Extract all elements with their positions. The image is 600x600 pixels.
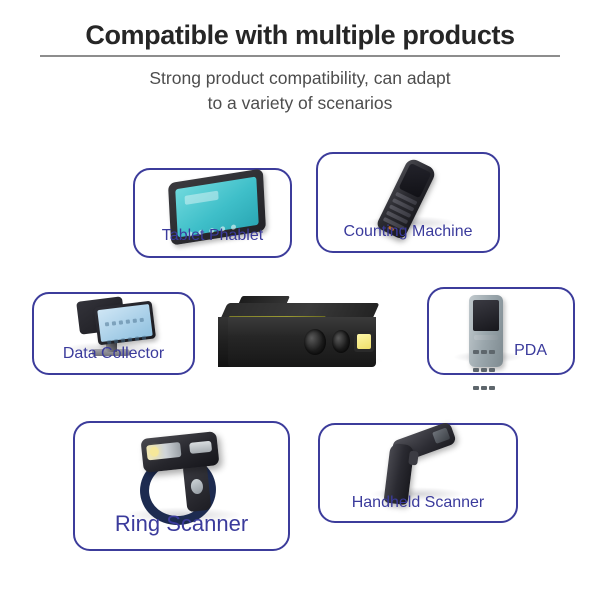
pda-icon [466, 295, 510, 371]
page-header: Compatible with multiple products Strong… [0, 0, 600, 116]
page-subtitle-line-2: to a variety of scenarios [70, 91, 530, 116]
card-label-tablet-phablet: Tablet Phablet [135, 228, 290, 244]
scanner-lens-1 [304, 329, 326, 355]
handheld-scanner-icon [375, 427, 470, 503]
card-label-ring-scanner: Ring Scanner [75, 513, 288, 535]
card-ring-scanner[interactable]: Ring Scanner [73, 421, 290, 551]
card-label-data-collector: Data Collector [34, 346, 193, 362]
scanner-led-window [354, 331, 374, 352]
ring-scanner-icon [130, 429, 242, 519]
card-label-pda: PDA [514, 343, 547, 359]
card-data-collector[interactable]: Data Collector [32, 292, 195, 375]
page-subtitle: Strong product compatibility, can adapt … [70, 66, 530, 116]
card-handheld-scanner[interactable]: Handheld Scanner [318, 423, 518, 523]
card-tablet-phablet[interactable]: Tablet Phablet [133, 168, 292, 258]
page-title: Compatible with multiple products [0, 0, 600, 52]
title-underline [40, 55, 560, 57]
page-subtitle-line-1: Strong product compatibility, can adapt [70, 66, 530, 91]
card-pda[interactable]: PDA [427, 287, 575, 375]
card-label-counting-machine: Counting Machine [318, 224, 498, 240]
barcode-scanner-module-icon [216, 296, 391, 368]
card-label-handheld-scanner: Handheld Scanner [320, 495, 516, 511]
scanner-lens-2 [332, 330, 350, 353]
card-counting-machine[interactable]: Counting Machine [316, 152, 500, 253]
